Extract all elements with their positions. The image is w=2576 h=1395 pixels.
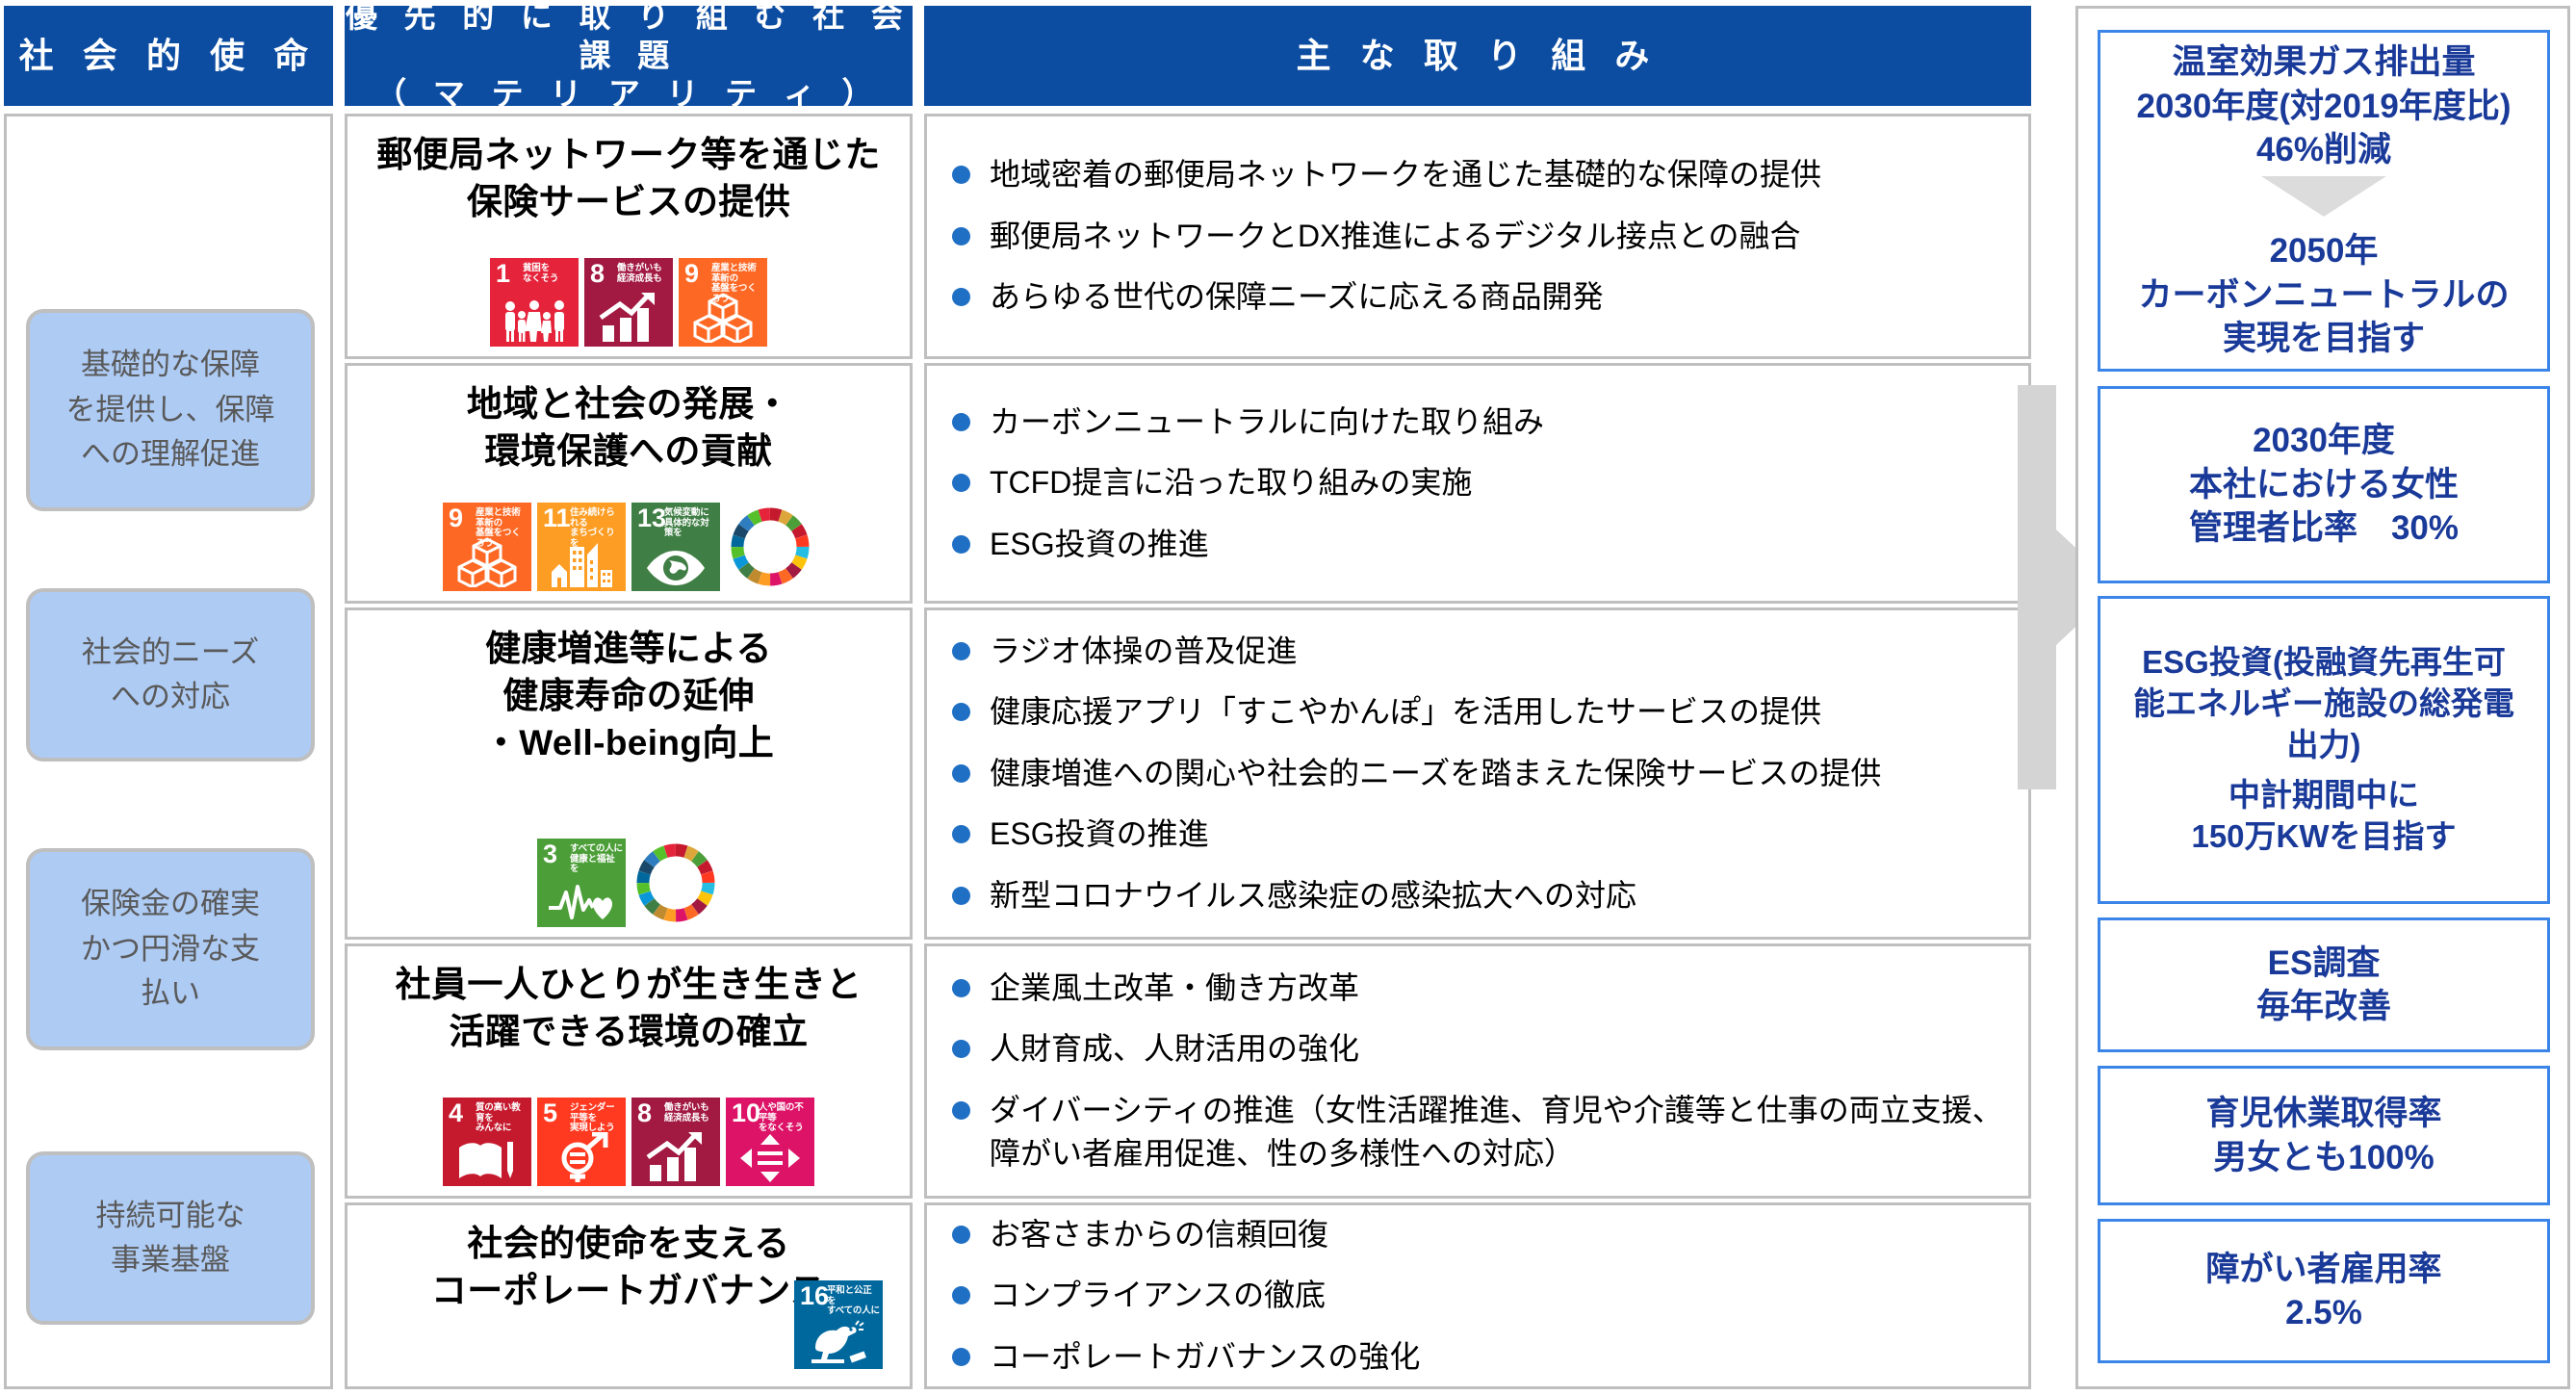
materiality-cell-2: 健康増進等による 健康寿命の延伸 ・Well-being向上 3 すべての人に健… [345,607,913,940]
sdg-icon-3: 3 すべての人に健康と福祉を [537,839,626,927]
bullet-icon [952,887,970,905]
mission-box-0-line-0: 基礎的な保障 [66,343,275,388]
equal-arrows-icon [726,1134,814,1182]
sdg-icon-group-0: 1 貧困をなくそう 8 働きがいも経済成長も [490,258,767,356]
mission-box-1-line-0: 社会的ニーズ [82,631,259,676]
bullet-icon [952,1286,970,1305]
action-item: カーボンニュートラルに向けた取り組み [952,400,2009,444]
sdg-icon-4: 4 質の高い教育をみんなに [443,1098,531,1186]
actions-cell-0: 地域密着の郵便局ネットワークを通じた基礎的な保障の提供 郵便局ネットワークとDX… [924,114,2031,359]
kpi-1-line-1: 本社における女性 [2189,463,2459,507]
kpi-5-line-1: 2.5% [2285,1291,2362,1335]
bullet-icon [952,1226,970,1244]
sdg-wheel-icon [726,503,814,591]
mission-box-1-line-1: への対応 [82,675,259,720]
materiality-diagram: 社 会 的 使 命 優 先 的 に 取 り 組 む 社 会 課 題 （ マ テ … [0,0,2576,1395]
kpi-2-line-2: 出力) [2287,725,2361,766]
sdg-icon-8: 8 働きがいも経済成長も [631,1098,720,1186]
sdg-icon-1-number: 1 [496,261,510,287]
kpi-2-line-4: 150万KWを目指す [2191,816,2456,858]
sdg-icon-13-caption: 気候変動に具体的な対策を [664,508,717,539]
actions-cell-1: カーボンニュートラルに向けた取り組み TCFD提言に沿った取り組みの実施 ESG… [924,363,2031,604]
sdg-icon-16: 16 平和と公正をすべての人に [794,1280,883,1369]
kpi-2-line-3: 中計期間中に [2228,775,2419,816]
sdg-icon-8-number: 8 [590,261,605,287]
actions-cell-4: お客さまからの信頼回復 コンプライアンスの徹底 コーポレートガバナンスの強化 [924,1202,2031,1389]
kpi-4-line-0: 育児休業取得率 [2205,1092,2441,1136]
kpi-0-line-2: 46%削減 [2256,128,2391,172]
materiality-title-2-line-1: 健康寿命の延伸 [483,673,774,720]
kpi-box-es-survey: ES調査 毎年改善 [2098,917,2550,1052]
header-main-actions: 主 な 取 り 組 み [924,6,2031,106]
eye-earth-icon [631,549,720,587]
bullet-icon [952,1348,970,1366]
sdg-icon-8-number: 8 [637,1100,652,1126]
sdg-icon-1: 1 貧困をなくそう [490,258,579,347]
action-text: コンプライアンスの徹底 [990,1274,2009,1317]
header-main-actions-label: 主 な 取 り 組 み [1297,35,1660,78]
growth-chart-icon [584,293,673,343]
mission-box-0: 基礎的な保障 を提供し、保障 への理解促進 [26,309,315,511]
kpi-3-line-0: ES調査 [2268,942,2381,986]
city-icon [537,541,626,587]
kpi-4-line-1: 男女とも100% [2213,1136,2434,1180]
mission-box-2-line-0: 保険金の確実 [81,882,260,927]
kpi-1-line-2: 管理者比率 30% [2189,506,2459,551]
kpi-0-line-1: 2030年度(対2019年度比) [2136,85,2511,129]
kpi-5-line-0: 障がい者雇用率 [2205,1248,2441,1292]
sdg-wheel-icon [631,839,720,927]
sdg-icon-13: 13 気候変動に具体的な対策を [631,503,720,591]
kpi-2-line-1: 能エネルギー施設の総発電 [2133,684,2514,725]
sdg-icon-9-number: 9 [449,505,463,531]
sdg-icon-group-2: 3 すべての人に健康と福祉を [537,839,720,937]
down-arrow-icon [2261,176,2386,228]
bullet-icon [952,1101,970,1120]
header-materiality-line2: （ マ テ リ ア リ テ ィ ） [345,75,913,115]
header-social-mission: 社 会 的 使 命 [4,6,333,106]
action-item: 健康応援アプリ「すこやかんぽ」を活用したサービスの提供 [952,690,2009,734]
mission-column: 基礎的な保障 を提供し、保障 への理解促進 社会的ニーズ への対応 保険金の確実… [4,114,333,1389]
bullet-icon [952,642,970,660]
people-icon [490,300,579,343]
materiality-title-2-line-0: 健康増進等による [483,626,774,673]
bullet-icon [952,764,970,783]
mission-box-0-line-2: への理解促進 [66,432,275,478]
bullet-icon [952,474,970,492]
sdg-icon-4-number: 4 [449,1100,463,1126]
action-item: 郵便局ネットワークとDX推進によるデジタル接点との融合 [952,215,2009,258]
kpi-box-esg-investment: ESG投資(投融資先再生可 能エネルギー施設の総発電 出力) 中計期間中に 15… [2098,596,2550,904]
action-text: 健康応援アプリ「すこやかんぽ」を活用したサービスの提供 [990,690,2009,734]
sdg-icon-3-caption: すべての人に健康と福祉を [570,844,623,875]
cubes-icon [679,293,767,343]
mission-box-2-line-1: かつ円滑な支 [81,927,260,972]
header-materiality-line1: 優 先 的 に 取 り 組 む 社 会 課 題 [345,0,913,75]
action-item: 健康増進への関心や社会的ニーズを踏まえた保険サービスの提供 [952,752,2009,795]
bullet-icon [952,227,970,245]
action-text: TCFD提言に沿った取り組みの実施 [990,461,2009,504]
sdg-icon-11: 11 住み続けられるまちづくりを [537,503,626,591]
header-social-mission-label: 社 会 的 使 命 [19,35,319,78]
materiality-cell-4: 社会的使命を支える コーポレートガバナンス 16 平和と公正をすべての人に [345,1202,913,1389]
sdg-icon-13-number: 13 [637,505,666,531]
kpi-box-greenhouse-gas: 温室効果ガス排出量 2030年度(対2019年度比) 46%削減 2050年 カ… [2098,30,2550,372]
mission-box-2: 保険金の確実 かつ円滑な支 払い [26,848,315,1050]
materiality-title-2-line-2: ・Well-being向上 [483,720,774,767]
heartbeat-icon [537,881,626,923]
materiality-cell-0: 郵便局ネットワーク等を通じた 保険サービスの提供 1 貧困をなくそう [345,114,913,359]
dove-icon [794,1319,883,1365]
action-item: 新型コロナウイルス感染症の感染拡大への対応 [952,874,2009,917]
mission-box-3-line-1: 事業基盤 [96,1238,245,1283]
action-text: ラジオ体操の普及促進 [990,630,2009,673]
kpi-0-line-5: 実現を目指す [2223,317,2425,361]
materiality-title-1: 地域と社会の発展・ 環境保護への貢献 [467,381,790,476]
bullet-icon [952,703,970,721]
sdg-icon-9: 9 産業と技術革新の基盤をつくろう [443,503,531,591]
sdg-icon-5: 5 ジェンダー平等を実現しよう [537,1098,626,1186]
sdg-icon-group-1: 9 産業と技術革新の基盤をつくろう 11 住み続けられるまちづくりを [443,503,814,601]
sdg-icon-16-caption: 平和と公正をすべての人に [827,1286,880,1317]
mission-box-0-line-1: を提供し、保障 [66,388,275,433]
bullet-icon [952,166,970,184]
sdg-icon-8: 8 働きがいも経済成長も [584,258,673,347]
materiality-title-3: 社員一人ひとりが生き生きと 活躍できる環境の確立 [396,962,863,1056]
action-text: ダイバーシティの推進（女性活躍推進、育児や介護等と仕事の両立支援、障がい者雇用促… [990,1089,2009,1176]
kpi-3-line-1: 毎年改善 [2256,985,2391,1029]
bullet-icon [952,288,970,306]
actions-cell-3: 企業風土改革・働き方改革 人財育成、人財活用の強化 ダイバーシティの推進（女性活… [924,943,2031,1199]
materiality-title-3-line-0: 社員一人ひとりが生き生きと [396,962,863,1009]
header-materiality: 優 先 的 に 取 り 組 む 社 会 課 題 （ マ テ リ ア リ テ ィ … [345,6,913,106]
bullet-icon [952,979,970,997]
book-icon [443,1138,531,1182]
materiality-title-1-line-1: 環境保護への貢献 [467,428,790,476]
sdg-icon-5-number: 5 [543,1100,557,1126]
actions-cell-2: ラジオ体操の普及促進 健康応援アプリ「すこやかんぽ」を活用したサービスの提供 健… [924,607,2031,940]
kpi-0-line-0: 温室効果ガス排出量 [2172,40,2475,85]
materiality-title-4-line-0: 社会的使命を支える [431,1221,826,1268]
action-item: お客さまからの信頼回復 [952,1213,2009,1256]
action-text: 企業風土改革・働き方改革 [990,967,2009,1010]
materiality-cell-3: 社員一人ひとりが生き生きと 活躍できる環境の確立 4 質の高い教育をみんなに 5… [345,943,913,1199]
sdg-icon-1-caption: 貧困をなくそう [523,264,576,284]
sdg-icon-10-caption: 人や国の不平等をなくそう [759,1103,811,1134]
mission-box-3: 持続可能な 事業基盤 [26,1151,315,1325]
action-text: ESG投資の推進 [990,813,2009,856]
sdg-icon-group-4: 16 平和と公正をすべての人に [794,1280,883,1379]
action-item: ESG投資の推進 [952,523,2009,566]
action-item: ESG投資の推進 [952,813,2009,856]
sdg-icon-16-number: 16 [800,1283,829,1309]
action-text: カーボンニュートラルに向けた取り組み [990,400,2009,444]
action-text: 地域密着の郵便局ネットワークを通じた基礎的な保障の提供 [990,153,2009,196]
action-item: 地域密着の郵便局ネットワークを通じた基礎的な保障の提供 [952,153,2009,196]
sdg-icon-10: 10 人や国の不平等をなくそう [726,1098,814,1186]
mission-box-3-line-0: 持続可能な [96,1194,245,1239]
action-text: ESG投資の推進 [990,523,2009,566]
sdg-icon-8-caption: 働きがいも経済成長も [664,1103,717,1124]
sdg-icon-11-number: 11 [543,505,571,531]
bullet-icon [952,825,970,843]
action-text: お客さまからの信頼回復 [990,1213,2009,1256]
sdg-icon-9: 9 産業と技術革新の基盤をつくろう [679,258,767,347]
materiality-title-0-line-1: 保険サービスの提供 [376,179,880,226]
materiality-title-3-line-1: 活躍できる環境の確立 [396,1009,863,1056]
action-item: コーポレートガバナンスの強化 [952,1335,2009,1379]
action-item: あらゆる世代の保障ニーズに応える商品開発 [952,275,2009,319]
sdg-icon-5-caption: ジェンダー平等を実現しよう [570,1103,623,1134]
action-item: TCFD提言に沿った取り組みの実施 [952,461,2009,504]
kpi-box-female-managers: 2030年度 本社における女性 管理者比率 30% [2098,386,2550,583]
materiality-cell-1: 地域と社会の発展・ 環境保護への貢献 9 産業と技術革新の基盤をつくろう 11 … [345,363,913,604]
bullet-icon [952,535,970,554]
sdg-icon-10-number: 10 [732,1100,760,1126]
kpi-column: 温室効果ガス排出量 2030年度(対2019年度比) 46%削減 2050年 カ… [2075,6,2570,1389]
materiality-title-2: 健康増進等による 健康寿命の延伸 ・Well-being向上 [483,626,774,766]
action-item: ダイバーシティの推進（女性活躍推進、育児や介護等と仕事の両立支援、障がい者雇用促… [952,1089,2009,1176]
action-text: 人財育成、人財活用の強化 [990,1027,2009,1071]
action-text: 新型コロナウイルス感染症の感染拡大への対応 [990,874,2009,917]
kpi-2-line-0: ESG投資(投融資先再生可 [2142,642,2506,684]
kpi-1-line-0: 2030年度 [2253,419,2395,463]
materiality-title-4-line-1: コーポレートガバナンス [431,1268,826,1315]
action-text: 健康増進への関心や社会的ニーズを踏まえた保険サービスの提供 [990,752,2009,795]
sdg-icon-group-3: 4 質の高い教育をみんなに 5 ジェンダー平等を実現しよう [443,1098,814,1196]
action-text: あらゆる世代の保障ニーズに応える商品開発 [990,275,2009,319]
action-item: 企業風土改革・働き方改革 [952,967,2009,1010]
bullet-icon [952,1040,970,1058]
gender-icon [537,1132,626,1182]
growth-chart-icon [631,1132,720,1182]
action-item: コンプライアンスの徹底 [952,1274,2009,1317]
action-item: ラジオ体操の普及促進 [952,630,2009,673]
materiality-title-4: 社会的使命を支える コーポレートガバナンス [431,1221,826,1315]
cubes-icon [443,537,531,587]
mission-box-1: 社会的ニーズ への対応 [26,588,315,762]
bullet-icon [952,413,970,431]
action-text: コーポレートガバナンスの強化 [990,1335,2009,1379]
action-item: 人財育成、人財活用の強化 [952,1027,2009,1071]
materiality-title-0-line-0: 郵便局ネットワーク等を通じた [376,132,880,179]
sdg-icon-3-number: 3 [543,841,557,867]
materiality-title-1-line-0: 地域と社会の発展・ [467,381,790,428]
materiality-title-0: 郵便局ネットワーク等を通じた 保険サービスの提供 [376,132,880,226]
kpi-box-childcare-leave: 育児休業取得率 男女とも100% [2098,1066,2550,1205]
sdg-icon-4-caption: 質の高い教育をみんなに [476,1103,528,1134]
sdg-icon-8-caption: 働きがいも経済成長も [617,264,670,284]
sdg-icon-9-number: 9 [684,261,699,287]
kpi-0-line-3: 2050年 [2270,229,2379,273]
mission-box-2-line-2: 払い [81,971,260,1017]
kpi-box-disability-employment: 障がい者雇用率 2.5% [2098,1219,2550,1363]
action-text: 郵便局ネットワークとDX推進によるデジタル接点との融合 [990,215,2009,258]
kpi-0-line-4: カーボンニュートラルの [2138,273,2509,318]
